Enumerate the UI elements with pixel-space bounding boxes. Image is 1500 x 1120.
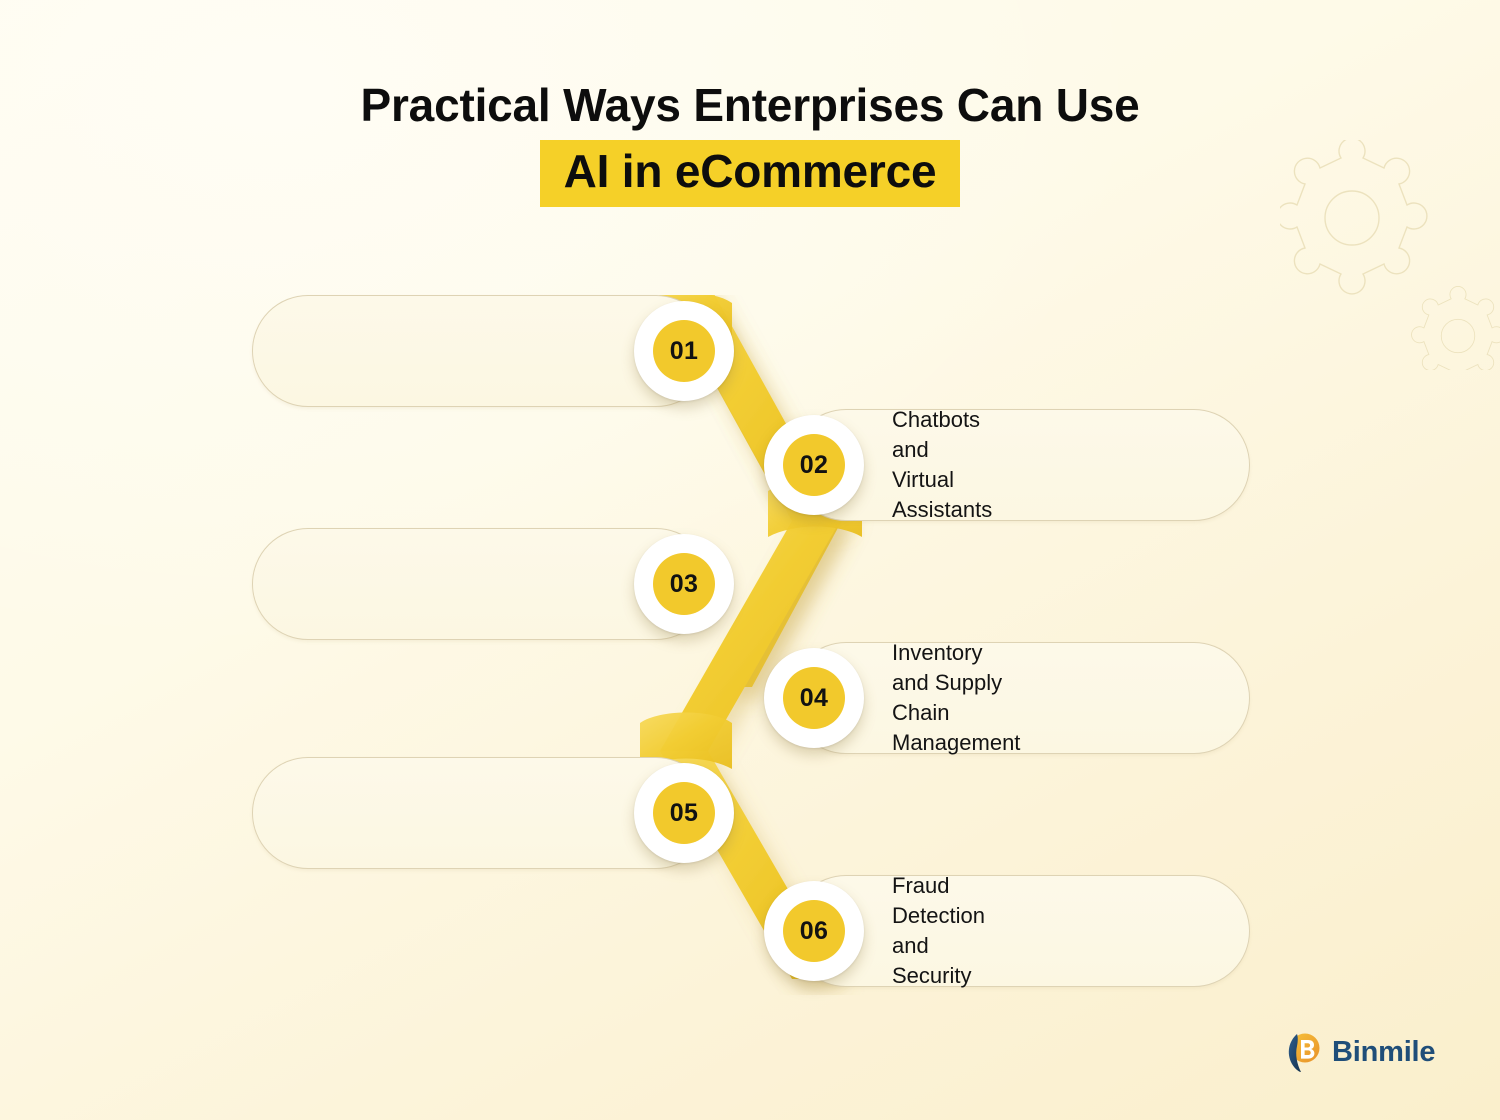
step-badge[interactable]: 06 [764,881,864,981]
step-number: 06 [800,919,828,944]
step-badge[interactable]: 03 [634,534,734,634]
step-badge-inner: 02 [783,434,845,496]
step-label: Fraud Detection and Security [892,871,985,991]
infographic-canvas: Practical Ways Enterprises Can Use AI in… [0,0,1500,1120]
step-badge-inner: 03 [653,553,715,615]
steps-container: Personalized Recommendations 01 Chatbots… [0,295,1500,995]
step-badge-inner: 05 [653,782,715,844]
step-badge-inner: 04 [783,667,845,729]
brand-logo[interactable]: Binmile [1283,1031,1435,1073]
step-label: Inventory and Supply Chain Management [892,638,1020,758]
title-highlight-band: AI in eCommerce [540,140,961,208]
step-number: 03 [670,572,698,597]
brand-name: Binmile [1332,1038,1435,1067]
page-title: Practical Ways Enterprises Can Use AI in… [0,80,1500,207]
step-badge[interactable]: 04 [764,648,864,748]
step-badge-inner: 01 [653,320,715,382]
step-badge[interactable]: 02 [764,415,864,515]
step-number: 04 [800,686,828,711]
step-number: 05 [670,801,698,826]
zigzag-connector-ribbon [0,295,1500,995]
title-line-1: Practical Ways Enterprises Can Use [0,80,1500,132]
step-badge-inner: 06 [783,900,845,962]
step-number: 01 [670,339,698,364]
step-number: 02 [800,453,828,478]
step-badge[interactable]: 01 [634,301,734,401]
step-label: Chatbots and Virtual Assistants [892,405,992,525]
binmile-logo-icon [1283,1031,1323,1073]
step-badge[interactable]: 05 [634,763,734,863]
title-line-2: AI in eCommerce [564,146,937,198]
